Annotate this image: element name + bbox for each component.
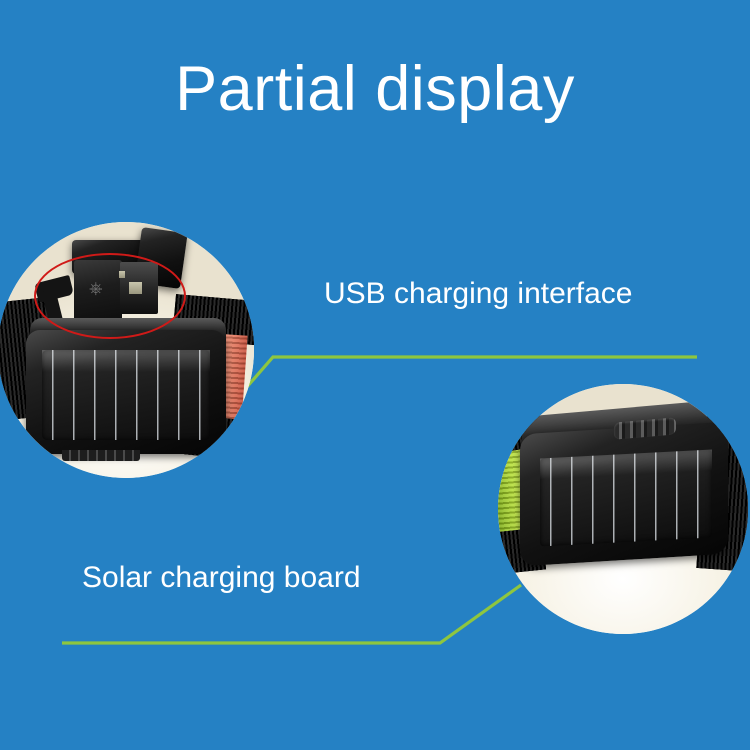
solar-cell-panel [42, 350, 210, 440]
promo-banner: Partial display USB charging interface S… [0, 0, 750, 750]
callout-label-solar: Solar charging board [82, 560, 361, 596]
photo-usb-content: ⎈ [0, 222, 254, 478]
usb-highlight-ellipse [34, 253, 186, 339]
solar-cell-panel-2 [540, 449, 712, 546]
solar-cell-gloss [42, 350, 210, 372]
photo-solar-charging-board [498, 384, 748, 634]
lamp-bottom-ridges [62, 450, 140, 461]
photo-usb-charging-interface: ⎈ [0, 222, 254, 478]
photo-solar-content [498, 384, 748, 634]
callout-label-usb: USB charging interface [324, 276, 633, 312]
page-title: Partial display [0, 56, 750, 122]
